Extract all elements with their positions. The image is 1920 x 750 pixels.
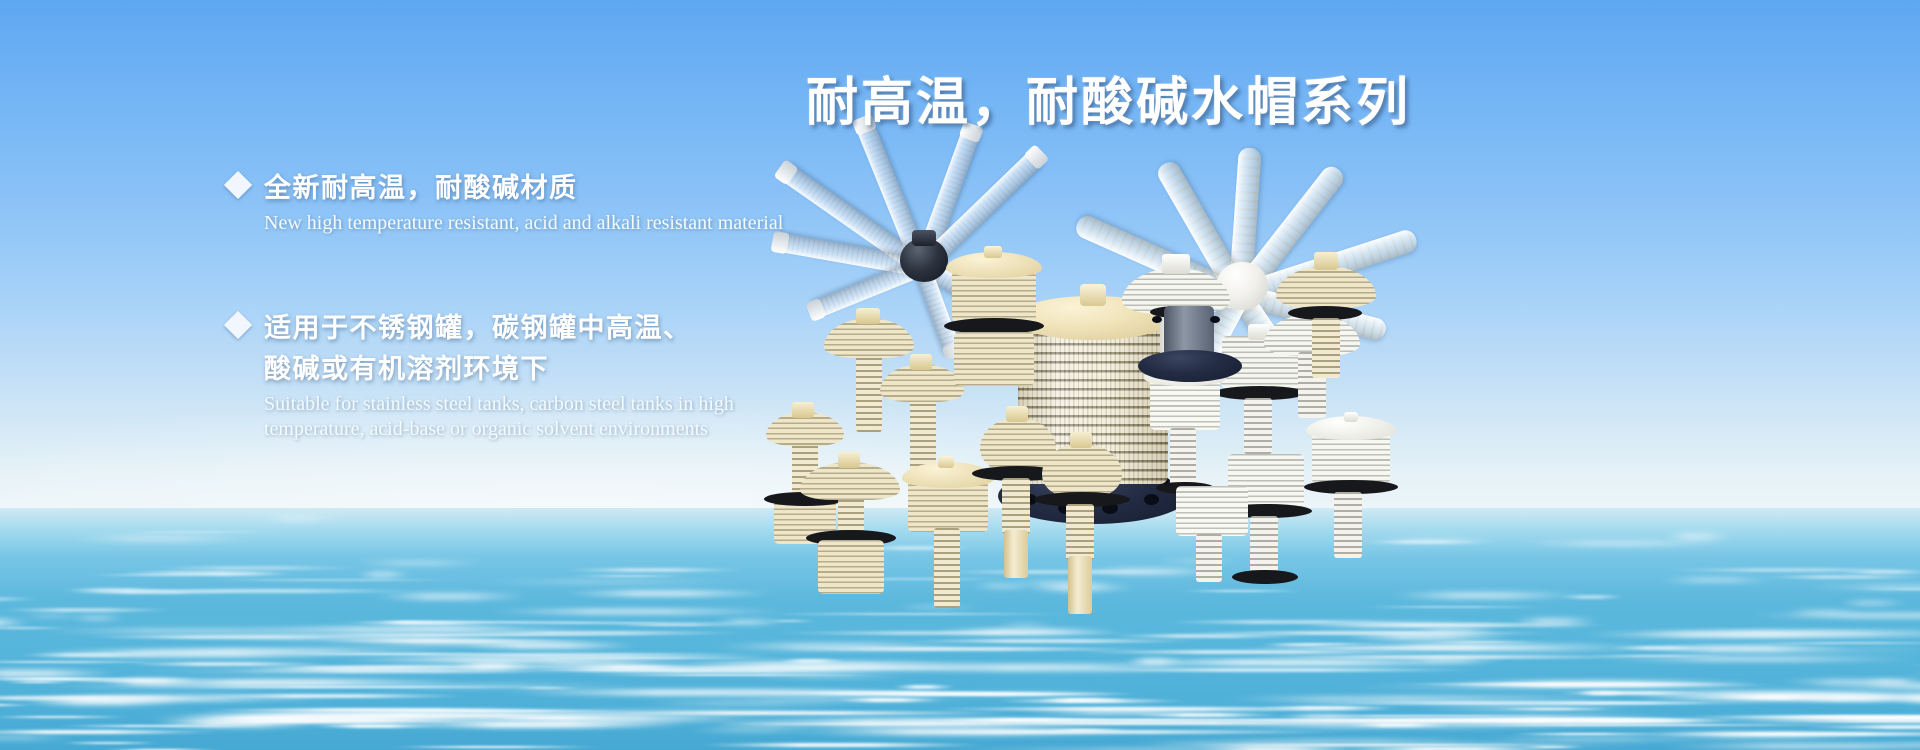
ripple-streak: [1668, 649, 1920, 651]
threaded-stem: [934, 528, 960, 608]
bullet-2-cn-line-1: 适用于不锈钢罐，碳钢罐中高温、: [264, 308, 692, 349]
bullet-2-en-block: Suitable for stainless steel tanks, carb…: [264, 392, 734, 442]
ripple-streak: [1579, 631, 1898, 638]
ripple-streak: [588, 674, 886, 676]
ripple-streak: [1074, 650, 1444, 654]
ripple-streak: [942, 693, 1122, 695]
ripple-streak: [563, 590, 775, 597]
bullet-2-cn-line-2-wrap: 酸碱或有机溶剂环境下: [264, 349, 734, 390]
ripple-streak: [387, 746, 604, 748]
nozzle-tube: [1068, 556, 1092, 614]
ripple-streak: [57, 725, 260, 727]
beige-nozzle: [1270, 248, 1382, 448]
ripple-streak: [997, 699, 1187, 703]
banner-stage: 耐高温，耐酸碱水帽系列 全新耐高温，耐酸碱材质 New high tempera…: [0, 0, 1920, 750]
ripple-streak: [1246, 655, 1661, 659]
navy-flange-fitting: [1130, 296, 1250, 406]
ripple-streak: [836, 698, 943, 702]
ripple-streak: [558, 666, 996, 670]
bolt-hole: [1210, 316, 1220, 323]
flange-base: [1138, 350, 1242, 382]
bullet-1-en-block: New high temperature resistant, acid and…: [264, 211, 783, 236]
ripple-streak: [278, 643, 637, 645]
cap-knob: [910, 354, 932, 370]
ripple-streak: [59, 742, 161, 744]
ripple-streak: [0, 608, 173, 612]
bullet-1-en-line-1: New high temperature resistant, acid and…: [264, 211, 783, 236]
threaded-stem: [838, 494, 864, 534]
ripple-streak: [0, 730, 219, 734]
ripple-streak: [1244, 715, 1619, 717]
diamond-bullet-icon: [224, 171, 252, 199]
center-knob: [1080, 284, 1106, 306]
white-nozzle: [1166, 472, 1258, 652]
ripple-streak: [179, 635, 493, 639]
bullet-1-cn-line-1: 全新耐高温，耐酸碱材质: [264, 168, 578, 209]
beige-nozzle: [796, 446, 906, 596]
ripple-streak: [1837, 601, 1909, 605]
ripple-streak: [1894, 673, 1920, 677]
ripple-streak: [372, 593, 531, 600]
threaded-stem: [1066, 504, 1094, 560]
ripple-streak: [699, 743, 986, 747]
ripple-streak: [1802, 725, 1920, 729]
ripple-streak: [266, 712, 665, 719]
ripple-streak: [1126, 743, 1343, 745]
ripple-streak: [1283, 701, 1783, 705]
cap-knob: [1070, 432, 1092, 448]
ripple-streak: [1656, 578, 1779, 582]
ripple-streak: [0, 627, 68, 629]
ripple-streak: [260, 515, 341, 522]
ripple-streak: [0, 619, 31, 626]
feature-bullet-2: 适用于不锈钢罐，碳钢罐中高温、 酸碱或有机溶剂环境下 Suitable for …: [228, 308, 734, 442]
ripple-streak: [1751, 612, 1920, 619]
ripple-streak: [1805, 585, 1920, 589]
ripple-streak: [1202, 740, 1493, 742]
fitting-barrel: [1164, 306, 1214, 356]
ripple-streak: [124, 662, 332, 666]
bullet-2-en-line-2: temperature, acid-base or organic solven…: [264, 417, 734, 442]
bolt-hole: [1152, 316, 1162, 323]
ripple-streak: [570, 575, 692, 577]
ripple-streak: [1257, 643, 1397, 645]
ripple-streak: [0, 716, 131, 718]
ripple-streak: [104, 649, 471, 653]
diamond-bullet-icon: [224, 311, 252, 339]
ripple-streak: [1387, 592, 1586, 599]
ripple-streak: [1198, 746, 1355, 750]
threaded-stem: [1196, 534, 1222, 582]
bullet-row: 适用于不锈钢罐，碳钢罐中高温、: [228, 308, 734, 349]
bullet-row: 全新耐高温，耐酸碱材质: [228, 168, 783, 209]
hub-knob: [912, 230, 936, 246]
ripple-streak: [1422, 641, 1544, 643]
ripple-streak: [114, 531, 284, 533]
ripple-streak: [566, 568, 745, 572]
ripple-streak: [0, 704, 34, 706]
nozzle-cap: [1276, 266, 1376, 308]
ripple-streak: [765, 620, 816, 622]
cap-knob: [856, 308, 880, 324]
ripple-streak: [203, 579, 467, 581]
product-group: [700, 120, 1920, 550]
ripple-streak: [777, 647, 1153, 651]
ripple-streak: [0, 597, 41, 601]
bullet-2-cn-line-2: 酸碱或有机溶剂环境下: [264, 349, 734, 390]
nozzle-body: [818, 540, 884, 594]
ripple-streak: [19, 653, 160, 657]
cap-knob: [1314, 252, 1338, 270]
ripple-streak: [907, 639, 1199, 643]
ripple-streak: [153, 566, 360, 570]
ripple-streak: [68, 590, 236, 594]
ripple-streak: [1509, 733, 1664, 735]
ripple-streak: [893, 685, 956, 689]
ripple-streak: [0, 670, 118, 677]
ripple-streak: [34, 629, 359, 633]
ripple-streak: [609, 624, 748, 626]
cap-knob: [1162, 254, 1190, 274]
ripple-streak: [1901, 663, 1920, 667]
ripple-streak: [513, 687, 582, 689]
ripple-streak: [393, 721, 690, 728]
ripple-streak: [902, 721, 1420, 725]
cap-knob: [792, 402, 814, 418]
ripple-streak: [162, 686, 568, 688]
threaded-stem: [1002, 478, 1030, 534]
threaded-stem: [1312, 318, 1340, 378]
ripple-streak: [1632, 694, 1920, 701]
cap-knob: [938, 456, 954, 468]
ripple-streak: [994, 624, 1058, 626]
beige-nozzle: [1032, 426, 1132, 616]
nozzle-body: [1042, 444, 1122, 496]
threaded-stem: [1334, 492, 1362, 558]
ripple-streak: [70, 535, 254, 542]
cap-knob: [838, 452, 860, 468]
ripple-streak: [1477, 738, 1722, 740]
bullet-2-en-line-1: Suitable for stainless steel tanks, carb…: [264, 392, 734, 417]
ripple-streak: [356, 571, 412, 578]
beige-nozzle: [938, 246, 1048, 446]
ripple-streak: [0, 737, 76, 739]
ripple-streak: [325, 621, 635, 623]
nozzle-body: [1176, 486, 1248, 536]
nozzle-body: [954, 332, 1034, 386]
ripple-streak: [353, 561, 487, 565]
feature-bullet-1: 全新耐高温，耐酸碱材质 New high temperature resista…: [228, 168, 783, 236]
banner-headline: 耐高温，耐酸碱水帽系列: [806, 60, 1366, 135]
ripple-streak: [488, 608, 788, 615]
nozzle-tube: [1004, 530, 1028, 578]
cap-knob: [984, 246, 1002, 258]
ripple-streak: [1762, 575, 1920, 579]
ripple-streak: [1410, 707, 1652, 709]
ripple-streak: [1741, 642, 1920, 644]
ripple-streak: [69, 616, 127, 620]
ripple-streak: [633, 702, 865, 704]
ripple-streak: [1356, 606, 1553, 608]
ripple-streak: [469, 581, 748, 583]
ripple-streak: [514, 657, 785, 659]
ripple-streak: [3, 698, 266, 700]
